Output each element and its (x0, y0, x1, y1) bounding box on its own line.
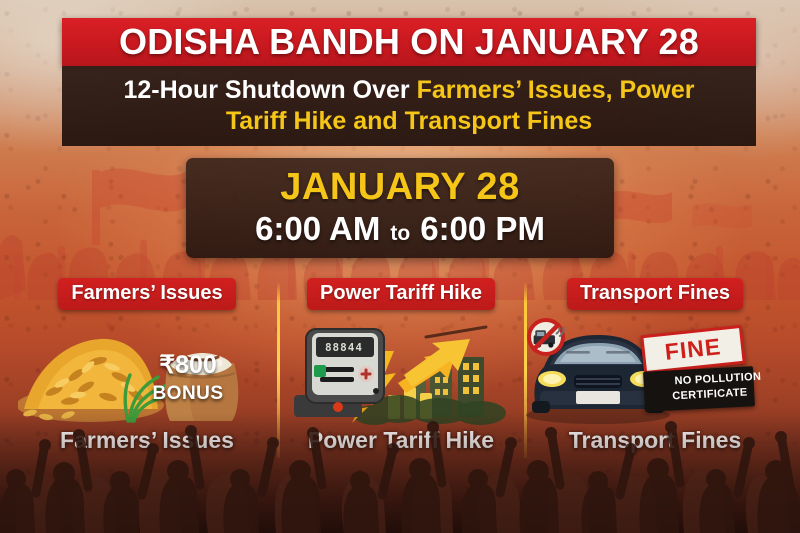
page-title: ODISHA BANDH ON JANUARY 28 (62, 18, 756, 66)
subtitle-line-2: Tariff Hike and Transport Fines (226, 107, 592, 137)
bandh-time-range: 6:00 AM to 6:00 PM (255, 210, 545, 248)
bandh-infographic-poster: ODISHA BANDH ON JANUARY 28 12-Hour Shutd… (0, 0, 800, 533)
chip-transport-fines: Transport Fines (567, 278, 743, 310)
bandh-date: JANUARY 28 (280, 168, 519, 208)
protest-crowd-lower-silhouette (0, 383, 800, 533)
meter-reading-display: 88844 (316, 341, 372, 354)
no-pollution-prohibition-icon (526, 317, 566, 357)
end-time: 6:00 PM (420, 210, 545, 248)
subtitle-white-text: 12-Hour Shutdown Over (123, 76, 416, 104)
poster-subtitle-box: 12-Hour Shutdown Over Farmers’ Issues, P… (62, 66, 756, 146)
poster-title-bar: ODISHA BANDH ON JANUARY 28 (62, 18, 756, 66)
time-separator: to (390, 222, 410, 246)
chip-farmers-issues: Farmers’ Issues (58, 278, 235, 310)
subtitle-line-1: 12-Hour Shutdown Over Farmers’ Issues, P… (123, 76, 694, 106)
fine-stamp-label: FINE (664, 333, 723, 366)
schedule-banner: JANUARY 28 6:00 AM to 6:00 PM (186, 158, 614, 258)
bonus-amount: ₹800 (140, 353, 236, 378)
chip-power-tariff-hike: Power Tariff Hike (307, 278, 495, 310)
subtitle-yellow-text-1: Farmers’ Issues, Power (417, 76, 695, 104)
start-time: 6:00 AM (255, 210, 380, 248)
